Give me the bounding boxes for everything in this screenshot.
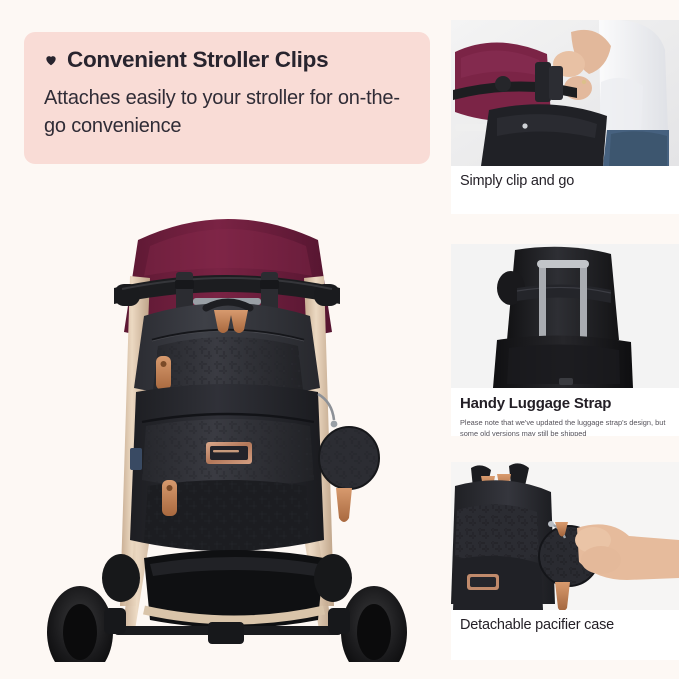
feature-panel-1: Simply clip and go — [451, 20, 679, 214]
photo-detaching-pacifier-case — [451, 462, 679, 610]
panel-1-illustration — [451, 20, 679, 166]
panel-1-title: Simply clip and go — [460, 173, 670, 190]
panel-3-caption: Detachable pacifier case — [451, 610, 679, 634]
hero-product-image — [18, 180, 436, 662]
infographic-page: Convenient Stroller Clips Attaches easil… — [0, 0, 679, 679]
hero-illustration — [18, 180, 436, 662]
brand-logo-plate — [206, 442, 252, 464]
panel-3-title: Detachable pacifier case — [460, 617, 670, 634]
panel-1-caption: Simply clip and go — [451, 166, 679, 190]
panel-2-caption: Handy Luggage Strap Please note that we'… — [451, 388, 679, 436]
photo-bag-on-luggage-handle — [451, 244, 679, 388]
panel-2-illustration — [451, 244, 679, 388]
panel-2-note: Please note that we've updated the lugga… — [460, 417, 670, 436]
headline-row: Convenient Stroller Clips — [44, 48, 408, 73]
headline-title: Convenient Stroller Clips — [67, 48, 328, 73]
panel-2-title: Handy Luggage Strap — [460, 395, 670, 413]
panel-3-illustration — [451, 462, 679, 610]
feature-panel-2: Handy Luggage Strap Please note that we'… — [451, 244, 679, 436]
photo-clipping-bag-to-stroller — [451, 20, 679, 166]
heart-icon — [44, 53, 58, 67]
headline-card: Convenient Stroller Clips Attaches easil… — [24, 32, 430, 164]
feature-panel-3: Detachable pacifier case — [451, 462, 679, 660]
headline-subtitle: Attaches easily to your stroller for on-… — [44, 84, 408, 141]
